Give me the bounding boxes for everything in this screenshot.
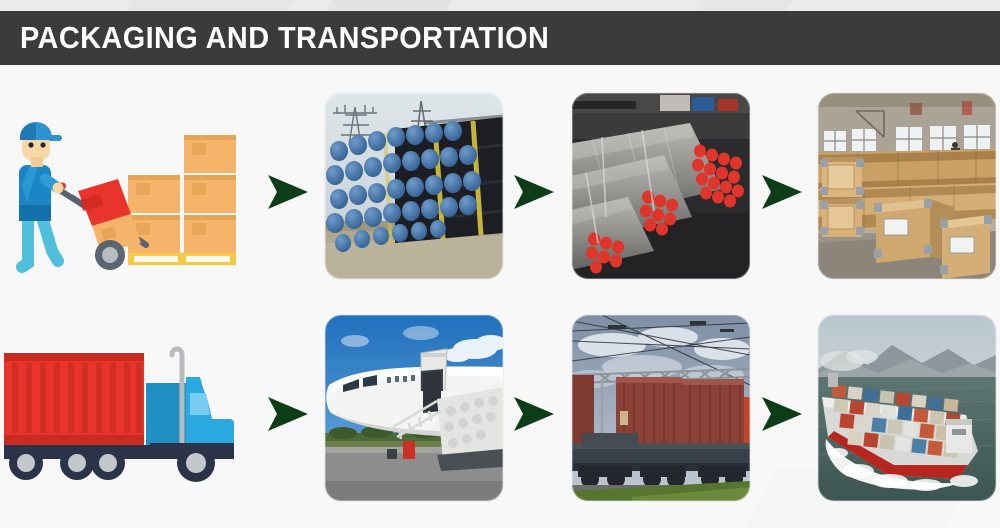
arrow-6-icon [760, 393, 804, 435]
wooden-crates-photo [818, 93, 996, 289]
arrow-5-icon [512, 393, 556, 435]
arrow-4-icon [266, 393, 310, 435]
steel-pipes-bundle-photo [325, 93, 503, 289]
wrapped-pipe-bundles-photo [572, 93, 750, 289]
packaging-row [0, 93, 1000, 289]
container-truck-illustration [0, 315, 262, 511]
transportation-row [0, 315, 1000, 511]
sea-freight-photo [818, 315, 996, 511]
rail-freight-photo [572, 315, 750, 511]
page-title: PACKAGING AND TRANSPORTATION [20, 20, 549, 56]
arrow-1-icon [266, 171, 310, 213]
warehouse-worker-illustration [0, 93, 262, 289]
arrow-2-icon [512, 171, 556, 213]
arrow-3-icon [760, 171, 804, 213]
air-freight-photo [325, 315, 503, 511]
section-header-bar: PACKAGING AND TRANSPORTATION [0, 11, 1000, 65]
page-root: PACKAGING AND TRANSPORTATION [0, 0, 1000, 528]
